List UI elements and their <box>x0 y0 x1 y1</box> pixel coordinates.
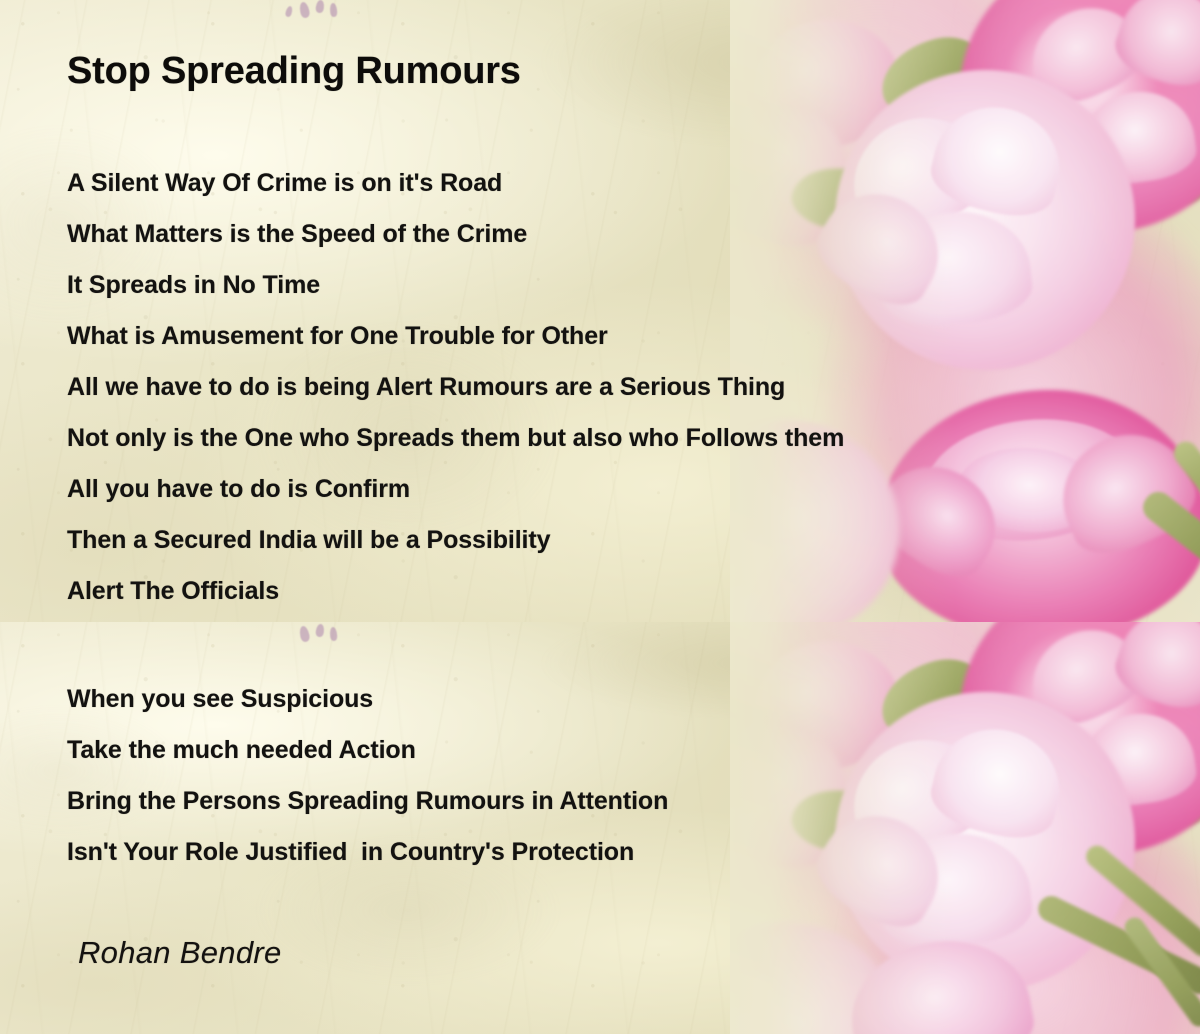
poem-line: Isn't Your Role Justified in Country's P… <box>67 827 668 878</box>
poem-line: Take the much needed Action <box>67 725 668 776</box>
poem-line: Then a Secured India will be a Possibili… <box>67 515 844 566</box>
poem-line: It Spreads in No Time <box>67 260 844 311</box>
poem-line: What is Amusement for One Trouble for Ot… <box>67 311 844 362</box>
author-signature: Rohan Bendre <box>78 935 282 971</box>
poem-line: When you see Suspicious <box>67 674 668 725</box>
poem-line: What Matters is the Speed of the Crime <box>67 209 844 260</box>
poem-image: Stop Spreading Rumours A Silent Way Of C… <box>0 0 1200 1034</box>
poem-line: All you have to do is Confirm <box>67 464 844 515</box>
poem-line: Not only is the One who Spreads them but… <box>67 413 844 464</box>
stanza-2: When you see Suspicious Take the much ne… <box>67 674 668 878</box>
page-title: Stop Spreading Rumours <box>67 50 521 93</box>
stanza-1: A Silent Way Of Crime is on it's Road Wh… <box>67 158 844 617</box>
poem-line: All we have to do is being Alert Rumours… <box>67 362 844 413</box>
poem-line: A Silent Way Of Crime is on it's Road <box>67 158 844 209</box>
poem-text-layer: Stop Spreading Rumours A Silent Way Of C… <box>0 0 1200 1034</box>
poem-line: Alert The Officials <box>67 566 844 617</box>
poem-line: Bring the Persons Spreading Rumours in A… <box>67 776 668 827</box>
